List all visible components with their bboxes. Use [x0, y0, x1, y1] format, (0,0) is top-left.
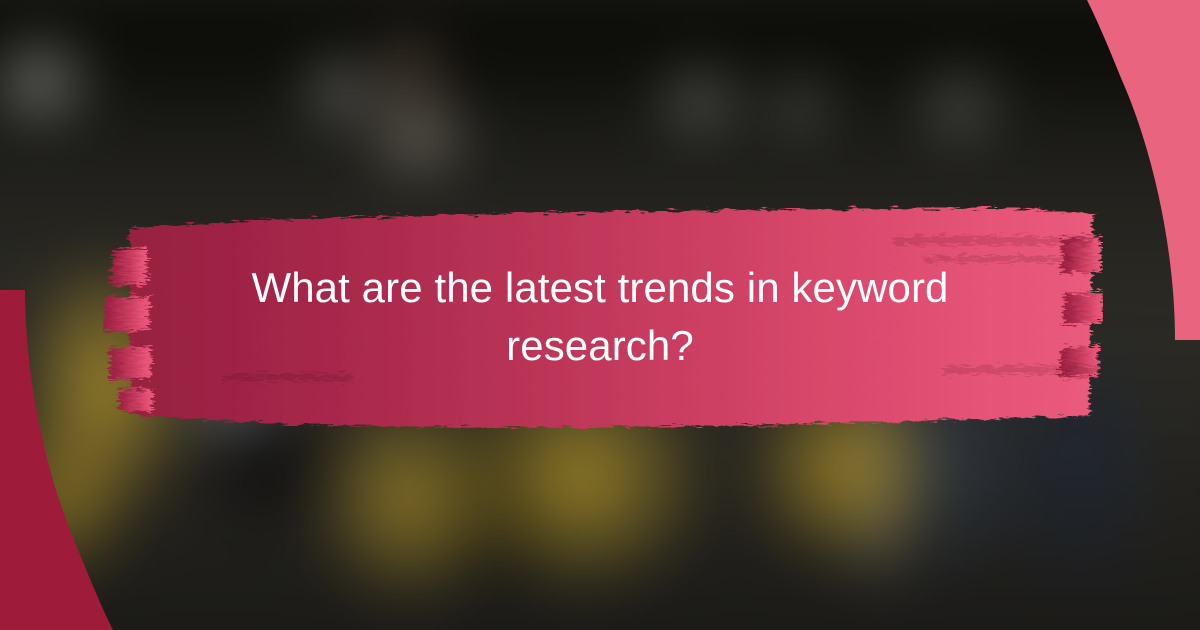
- share-card-canvas: What are the latest trends in keyword re…: [0, 0, 1200, 630]
- headline: What are the latest trends in keyword re…: [150, 198, 1050, 436]
- headline-text: What are the latest trends in keyword re…: [174, 259, 1026, 375]
